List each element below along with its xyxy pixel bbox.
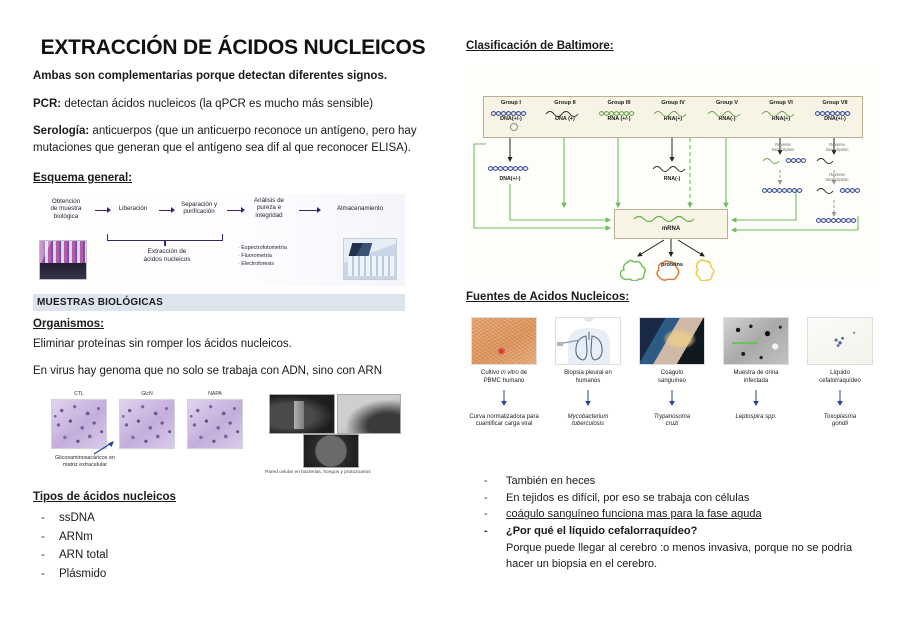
list-item: ARNm (59, 528, 433, 547)
fuente-item-3: Muestra de orinainfectada Leptospira spp… (718, 317, 794, 421)
down-arrow-icon (500, 390, 508, 406)
baltimore-group-3: Group III RNA (+/-) (592, 97, 646, 137)
analysis-methods-list: EspectrofotometríaFluorometríaElectrofor… (238, 244, 287, 269)
muestras-line-2: En virus hay genoma que no solo se traba… (33, 363, 433, 380)
fuente-image-pbmc-culture (471, 317, 537, 365)
fuente-caption: Biopsia pleural enhumanos (550, 370, 626, 386)
esquema-heading: Esquema general: (33, 172, 132, 184)
rna-single-strand-icon (653, 109, 693, 118)
annotation-circle (510, 123, 518, 131)
fuente-image-pleural-biopsy (555, 317, 621, 365)
flow-node-1: Liberación (109, 205, 157, 213)
mrna-box: mRNA (614, 209, 728, 239)
nota-answer: Porque puede llegar al cerebro :o menos … (506, 540, 878, 573)
pcr-label: PCR: (33, 98, 61, 110)
tipos-list: ssDNA ARNm ARN total Plásmido (33, 509, 433, 584)
flow-node-2: Separación ypurificación (173, 201, 225, 217)
rna-single-strand-icon (707, 109, 747, 118)
document-page: EXTRACCIÓN DE ÁCIDOS NUCLEICOS Ambas son… (0, 0, 905, 640)
dna-double-helix-icon (491, 109, 531, 118)
baltimore-group-5: Group V RNA(-) (700, 97, 754, 137)
fuente-image-urine-sample (723, 317, 789, 365)
flow-node-3: Análisis depureza eintegridad (243, 197, 295, 220)
histology-label-2: NAPA (187, 391, 243, 397)
histology-label-1: GlcN (119, 391, 175, 397)
list-item: ssDNA (59, 509, 433, 528)
lead-paragraph: Ambas son complementarias porque detecta… (33, 69, 433, 85)
analysis-method: Electroforesis (238, 260, 287, 268)
fuente-item-2: Coágulosanguíneo Trypanosomacruzi (634, 317, 710, 429)
baltimore-group-2: Group II DNA (+) (538, 97, 592, 137)
fuente-caption: Coágulosanguíneo (634, 370, 710, 386)
intermediate-label-rna: RNA(-) (649, 176, 695, 182)
intermediate-dna-icon (488, 164, 532, 173)
nota-bullet-2: coágulo sanguíneo funciona mas para la f… (506, 506, 878, 523)
histology-image-glcn (119, 399, 175, 449)
group-name: Group IV (646, 100, 700, 106)
down-arrow-icon (836, 390, 844, 406)
sample-tubes-photo (39, 240, 87, 280)
extraction-brace-label: Extracción deácidos nucleicos (115, 248, 219, 265)
microscopy-caption: Pared celular en bacterias, hongos y pro… (265, 470, 405, 475)
fuente-caption: Cultivo in vitro dePBMC humano (466, 370, 542, 386)
baltimore-heading: Clasificación de Baltimore: (466, 40, 614, 52)
dna-single-strand-icon (545, 109, 585, 118)
torso-lungs-illustration (556, 318, 621, 365)
rt-rna-icon (816, 156, 860, 165)
esquema-general-figure: Obtenciónde muestrabiológica Liberación … (33, 194, 405, 286)
fuente-organism: Curva normalizadora paracuantificar carg… (466, 414, 542, 430)
pcr-text: detectan ácidos nucleicos (la qPCR es mu… (61, 98, 373, 110)
extraction-brace (107, 234, 223, 241)
histology-figure: CTL GlcN NAPA Glicosaminosacáricos enmat… (33, 391, 405, 481)
baltimore-group-1: Group I DNA(+/-) (484, 97, 538, 137)
fuente-caption: Líquidocefalorraquídeo (802, 370, 878, 386)
histology-label-0: CTL (51, 391, 107, 397)
histology-caption: Glicosaminosacáricos enmatriz extracelul… (37, 455, 133, 470)
flow-node-4: Almacenamiento (321, 205, 399, 213)
proteins-label: proteins (466, 262, 878, 268)
rt-rna-icon (762, 156, 806, 165)
microscopy-image-2 (337, 394, 401, 434)
fuente-organism: Leptospira spp. (718, 414, 794, 422)
fuente-item-1: Biopsia pleural enhumanos Mycobacteriumt… (550, 317, 626, 429)
page-title: EXTRACCIÓN DE ÁCIDOS NUCLEICOS (33, 36, 433, 60)
dna-double-helix-icon (815, 109, 855, 118)
flow-arrow-0 (95, 210, 107, 212)
rna-single-strand-icon (761, 109, 801, 118)
muestras-line-1: Eliminar proteínas sin romper los ácidos… (33, 336, 433, 353)
list-item: ARN total (59, 546, 433, 565)
notas-list: También en heces En tejidos es difícil, … (466, 473, 878, 573)
nota-bullet-0: También en heces (506, 473, 878, 490)
intermediate-label-dna: DNA(+/-) (487, 176, 533, 182)
storage-rack-photo (343, 238, 397, 280)
mrna-strand-icon (633, 214, 709, 224)
fuente-item-0: Cultivo in vitro dePBMC humano Curva nor… (466, 317, 542, 429)
fuente-image-csf (807, 317, 873, 365)
fuente-organism: Trypanosomacruzi (634, 414, 710, 430)
tipos-heading: Tipos de ácidos nucleicos (33, 491, 176, 503)
flow-arrow-3 (299, 210, 317, 212)
flow-node-0: Obtenciónde muestrabiológica (39, 198, 93, 221)
serologia-paragraph: Serología: anticuerpos (que un anticuerp… (33, 123, 433, 156)
reverse-transcription-label-2: Reversetranscription (822, 142, 852, 152)
microscopy-image-3 (303, 434, 359, 468)
intermediate-rna-icon (652, 164, 692, 173)
group-name: Group VI (754, 100, 808, 106)
rt-dna-icon (762, 186, 806, 195)
nota-bullet-3: ¿Por qué el líquido cefalorraquídeo? (506, 523, 878, 540)
group-name: Group I (484, 100, 538, 106)
baltimore-group-6: Group VI RNA(+) (754, 97, 808, 137)
left-column: EXTRACCIÓN DE ÁCIDOS NUCLEICOS Ambas son… (33, 36, 433, 583)
fuentes-figure: Cultivo in vitro dePBMC humano Curva nor… (466, 317, 878, 467)
flow-arrow-1 (159, 210, 171, 212)
organismos-heading: Organismos: (33, 318, 104, 330)
down-arrow-icon (584, 390, 592, 406)
rna-double-strand-icon (599, 109, 639, 118)
fuente-organism: Mycobacteriumtuberculosis (550, 414, 626, 430)
fuente-item-4: Líquidocefalorraquídeo Toxoplasmagondii (802, 317, 878, 429)
histology-annotation-arrow (93, 441, 115, 455)
baltimore-classification-figure: Group I DNA(+/-) Group II DNA (+) (466, 66, 878, 281)
down-arrow-icon (668, 390, 676, 406)
fuente-organism: Toxoplasmagondii (802, 414, 878, 430)
baltimore-group-4: Group IV RNA(+) (646, 97, 700, 137)
histology-image-napa (187, 399, 243, 449)
analysis-method: Espectrofotometría (238, 244, 287, 252)
fuentes-heading: Fuentes de Acidos Nucleicos: (466, 291, 629, 303)
rt-mixed-icon (816, 186, 860, 195)
reverse-transcription-label-1: Reversetranscription (768, 142, 798, 152)
rt-dna-icon (816, 216, 860, 225)
microscopy-figure: Pared celular en bacterias, hongos y pro… (265, 394, 405, 468)
flow-arrow-2 (227, 210, 241, 212)
nota-bullet-1: En tejidos es difícil, por eso se trabaj… (506, 490, 878, 507)
muestras-biologicas-band: MUESTRAS BIOLÓGICAS (33, 294, 405, 311)
reverse-transcription-label-3: Reversetranscription (822, 172, 852, 182)
list-item: Plásmido (59, 565, 433, 584)
fuente-image-blood-clot (639, 317, 705, 365)
serologia-label: Serología: (33, 125, 89, 137)
group-name: Group VII (808, 100, 862, 106)
analysis-method: Fluorometría (238, 252, 287, 260)
serologia-text: anticuerpos (que un anticuerpo reconoce … (33, 125, 417, 154)
fuente-caption: Muestra de orinainfectada (718, 370, 794, 386)
pcr-paragraph: PCR: detectan ácidos nucleicos (la qPCR … (33, 96, 433, 113)
baltimore-groups-box: Group I DNA(+/-) Group II DNA (+) (483, 96, 863, 138)
microscopy-image-1 (269, 394, 335, 434)
baltimore-group-7: Group VII DNA(+/-) (808, 97, 862, 137)
right-column: Clasificación de Baltimore: (466, 36, 878, 573)
group-name: Group III (592, 100, 646, 106)
group-name: Group V (700, 100, 754, 106)
down-arrow-icon (752, 390, 760, 406)
mrna-label: mRNA (615, 226, 727, 232)
group-name: Group II (538, 100, 592, 106)
